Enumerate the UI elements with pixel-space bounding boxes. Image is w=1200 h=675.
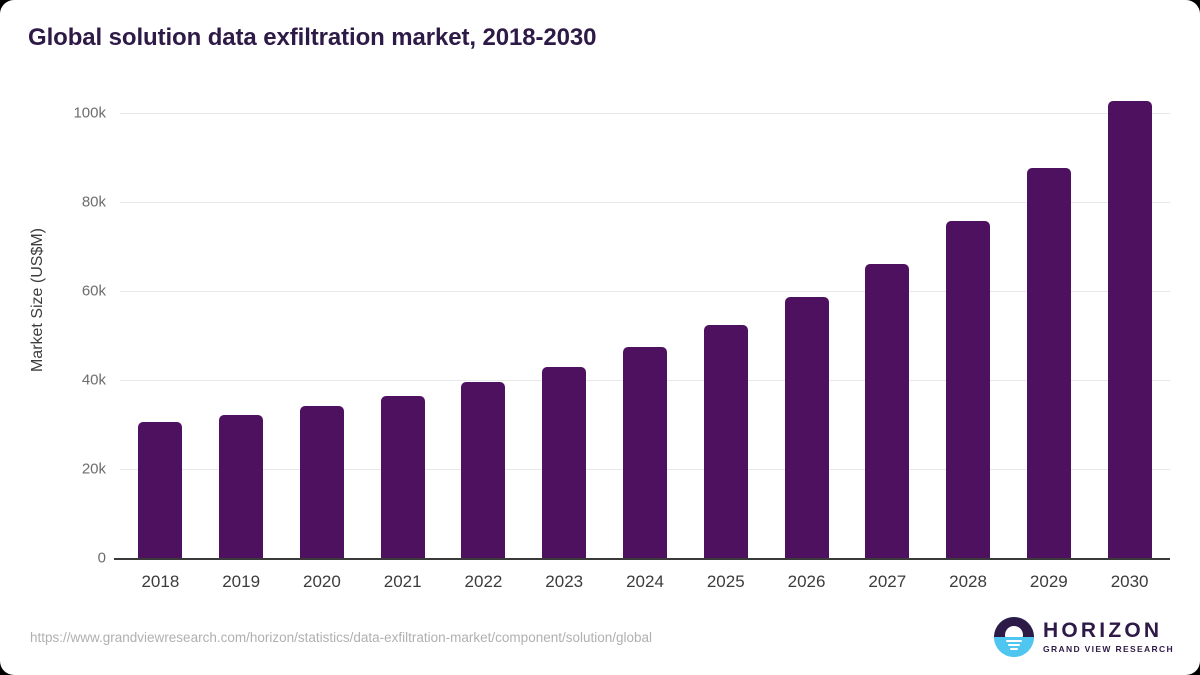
y-tick-label: 100k	[16, 105, 106, 122]
bar-2018[interactable]	[138, 422, 182, 558]
x-tick-label-2026: 2026	[767, 572, 847, 592]
plot-area: 020k40k60k80k100k 2018201920202021202220…	[120, 100, 1170, 558]
x-tick-label-2029: 2029	[1009, 572, 1089, 592]
horizon-sun-circle-icon	[994, 617, 1034, 657]
y-axis-title: Market Size (US$M)	[29, 200, 47, 400]
x-tick-label-2024: 2024	[605, 572, 685, 592]
chart-container: Market Size (US$M) 020k40k60k80k100k 201…	[0, 0, 1200, 600]
chart-card: Global solution data exfiltration market…	[0, 0, 1200, 675]
x-tick-label-2018: 2018	[120, 572, 200, 592]
bar-2025[interactable]	[704, 325, 748, 558]
x-tick-label-2028: 2028	[928, 572, 1008, 592]
bar-2027[interactable]	[865, 264, 909, 558]
bar-2024[interactable]	[623, 347, 667, 558]
bar-2022[interactable]	[461, 382, 505, 558]
x-tick-label-2019: 2019	[201, 572, 281, 592]
bar-2030[interactable]	[1108, 101, 1152, 558]
y-tick-label: 0	[16, 550, 106, 567]
bar-2020[interactable]	[300, 406, 344, 558]
bar-2029[interactable]	[1027, 168, 1071, 558]
x-tick-label-2021: 2021	[363, 572, 443, 592]
logo-tagline: GRAND VIEW RESEARCH	[1043, 645, 1174, 654]
x-tick-label-2025: 2025	[686, 572, 766, 592]
bar-2028[interactable]	[946, 221, 990, 558]
bar-2019[interactable]	[219, 415, 263, 558]
x-tick-label-2020: 2020	[282, 572, 362, 592]
source-url[interactable]: https://www.grandviewresearch.com/horizo…	[30, 630, 652, 645]
bar-series	[120, 100, 1170, 558]
bar-2023[interactable]	[542, 367, 586, 558]
x-tick-label-2023: 2023	[524, 572, 604, 592]
x-tick-label-2030: 2030	[1090, 572, 1170, 592]
logo-wordmark: HORIZON GRAND VIEW RESEARCH	[1043, 620, 1174, 654]
logo-title: HORIZON	[1043, 620, 1174, 641]
x-tick-label-2022: 2022	[443, 572, 523, 592]
bar-2026[interactable]	[785, 297, 829, 558]
y-tick-label: 40k	[16, 372, 106, 389]
y-tick-label: 80k	[16, 194, 106, 211]
horizon-logo: HORIZON GRAND VIEW RESEARCH	[994, 617, 1174, 657]
bar-2021[interactable]	[381, 396, 425, 558]
x-tick-label-2027: 2027	[847, 572, 927, 592]
y-tick-label: 20k	[16, 461, 106, 478]
y-tick-label: 60k	[16, 283, 106, 300]
x-axis-line	[114, 558, 1170, 560]
